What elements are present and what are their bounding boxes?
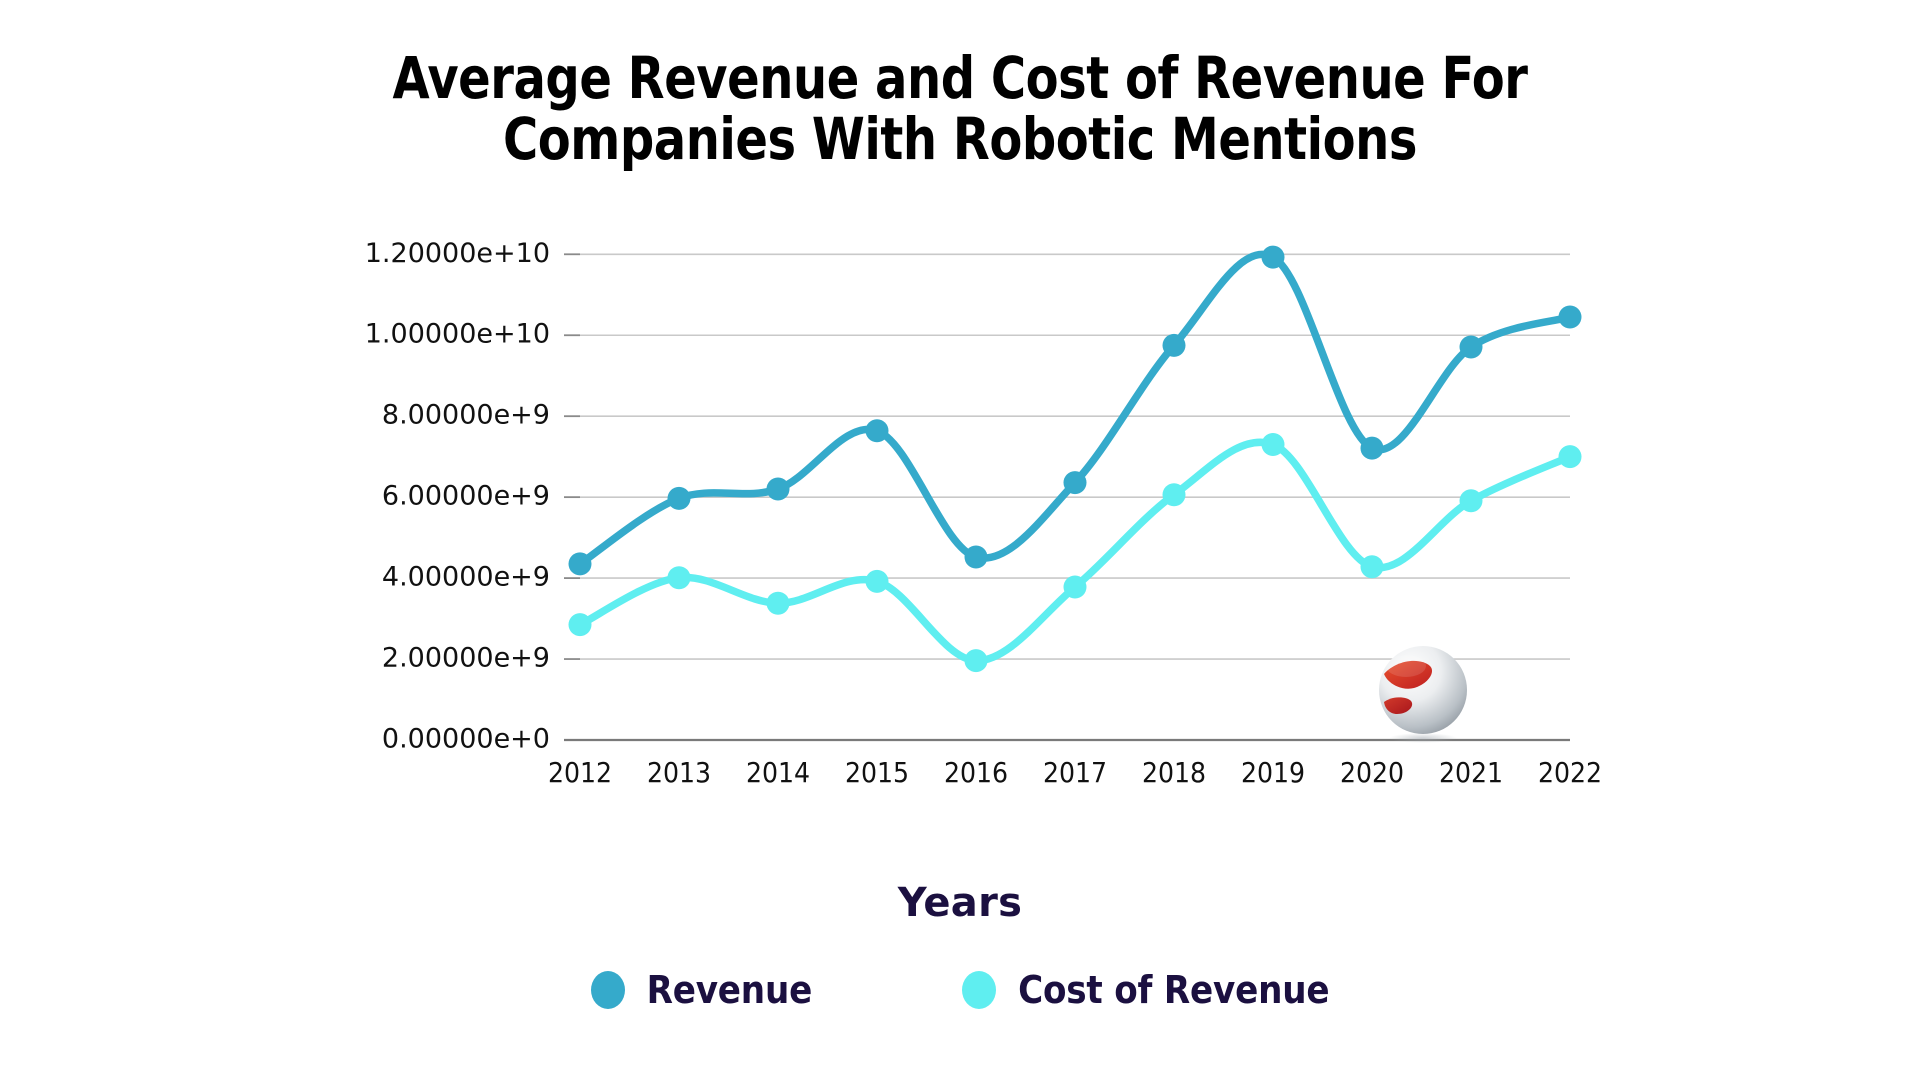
- x-axis-tick-label: 2022: [1538, 756, 1602, 789]
- data-point[interactable]: [866, 570, 889, 593]
- y-axis-tick-label: 0.00000e+0: [382, 724, 550, 755]
- data-point[interactable]: [1559, 445, 1582, 468]
- series-revenue: [569, 246, 1582, 576]
- data-point[interactable]: [1163, 334, 1186, 357]
- series-cost-of-revenue: [569, 433, 1582, 672]
- y-axis-tick-label: 8.00000e+9: [382, 400, 550, 431]
- x-axis-tick-label: 2020: [1340, 756, 1404, 789]
- x-axis-tick-label: 2014: [746, 756, 810, 789]
- data-point[interactable]: [1460, 489, 1483, 512]
- data-point[interactable]: [767, 478, 790, 501]
- sphere-logo-icon: [1370, 640, 1476, 746]
- legend-label: Revenue: [647, 968, 812, 1012]
- legend-swatch-icon: [962, 971, 996, 1009]
- data-point[interactable]: [767, 592, 790, 615]
- series-line: [580, 254, 1570, 564]
- x-axis-tick-label: 2012: [548, 756, 612, 789]
- x-axis-tick-labels: 2012201320142015201620172018201920202021…: [548, 756, 1602, 789]
- data-point[interactable]: [1361, 555, 1384, 578]
- data-point[interactable]: [1262, 433, 1285, 456]
- line-chart-svg: 0.00000e+02.00000e+94.00000e+96.00000e+9…: [0, 185, 1920, 825]
- data-point[interactable]: [1064, 576, 1087, 599]
- legend-label: Cost of Revenue: [1018, 968, 1329, 1012]
- data-point[interactable]: [569, 613, 592, 636]
- x-axis-tick-label: 2015: [845, 756, 909, 789]
- legend-item[interactable]: Cost of Revenue: [962, 968, 1329, 1012]
- y-axis-tick-label: 6.00000e+9: [382, 481, 550, 512]
- legend-item[interactable]: Revenue: [591, 968, 812, 1012]
- data-point[interactable]: [668, 566, 691, 589]
- y-axis-tick-label: 4.00000e+9: [382, 562, 550, 593]
- legend-swatch-icon: [591, 971, 625, 1009]
- x-axis-tick-label: 2021: [1439, 756, 1503, 789]
- x-axis-tick-label: 2019: [1241, 756, 1305, 789]
- data-point[interactable]: [1559, 306, 1582, 329]
- plot-area: 0.00000e+02.00000e+94.00000e+96.00000e+9…: [0, 185, 1920, 825]
- x-axis-tick-label: 2017: [1043, 756, 1107, 789]
- data-point[interactable]: [1460, 335, 1483, 358]
- y-axis-tick-label: 1.00000e+10: [365, 319, 550, 350]
- data-point[interactable]: [668, 487, 691, 510]
- data-point[interactable]: [965, 546, 988, 569]
- data-series: [569, 246, 1582, 673]
- y-axis-tick-label: 2.00000e+9: [382, 643, 550, 674]
- data-point[interactable]: [1064, 471, 1087, 494]
- chart-page: Average Revenue and Cost of Revenue For …: [0, 0, 1920, 1080]
- data-point[interactable]: [1262, 246, 1285, 269]
- page-title: Average Revenue and Cost of Revenue For …: [380, 48, 1539, 170]
- x-axis-tick-label: 2013: [647, 756, 711, 789]
- x-axis-title: Years: [0, 880, 1920, 926]
- data-point[interactable]: [569, 552, 592, 575]
- chart-legend: RevenueCost of Revenue: [0, 968, 1920, 1012]
- y-axis-tick-label: 1.20000e+10: [365, 238, 550, 269]
- data-point[interactable]: [1163, 483, 1186, 506]
- y-axis-tick-labels: 0.00000e+02.00000e+94.00000e+96.00000e+9…: [365, 238, 550, 755]
- x-axis-tick-label: 2016: [944, 756, 1008, 789]
- data-point[interactable]: [866, 419, 889, 442]
- data-point[interactable]: [965, 649, 988, 672]
- data-point[interactable]: [1361, 437, 1384, 460]
- x-axis-tick-label: 2018: [1142, 756, 1206, 789]
